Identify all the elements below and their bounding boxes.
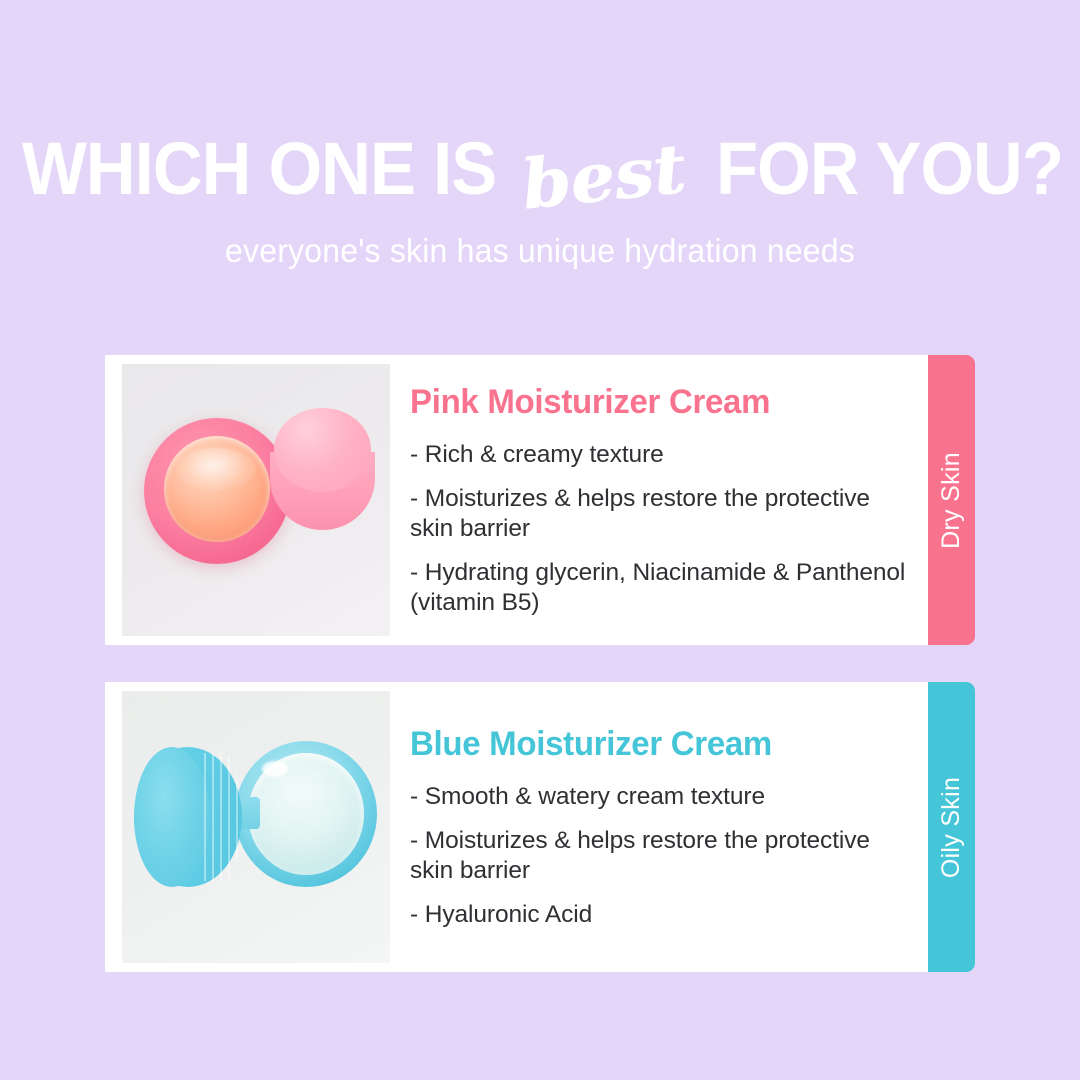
product-title-pink: Pink Moisturizer Cream — [410, 383, 899, 422]
product-title-blue: Blue Moisturizer Cream — [410, 725, 899, 764]
product-image-pink — [122, 364, 390, 636]
card-body: Blue Moisturizer Cream - Smooth & watery… — [105, 682, 928, 972]
product-bullet: - Moisturizes & helps restore the protec… — [410, 484, 914, 544]
skin-type-tab-label: Oily Skin — [937, 776, 966, 877]
page-subtitle: everyone's skin has unique hydration nee… — [16, 232, 1064, 270]
skin-type-tab-label: Dry Skin — [937, 452, 966, 549]
jar-cream-highlight-icon — [262, 761, 288, 777]
card-body: Pink Moisturizer Cream - Rich & creamy t… — [105, 355, 928, 645]
page-title: WHICH ONE IS best FOR YOU? — [0, 128, 1080, 210]
skin-type-tab-oily[interactable]: Oily Skin — [928, 682, 975, 972]
product-bullet: - Rich & creamy texture — [410, 440, 914, 470]
product-card-pink[interactable]: Pink Moisturizer Cream - Rich & creamy t… — [105, 355, 975, 645]
headline-script-word: best — [504, 126, 704, 228]
product-bullet: - Moisturizes & helps restore the protec… — [410, 826, 914, 886]
card-text-column: Blue Moisturizer Cream - Smooth & watery… — [390, 725, 928, 930]
card-text-column: Pink Moisturizer Cream - Rich & creamy t… — [390, 383, 928, 618]
skin-type-tab-dry[interactable]: Dry Skin — [928, 355, 975, 645]
product-bullet: - Hyaluronic Acid — [410, 900, 914, 930]
headline-suffix: FOR YOU? — [716, 128, 1063, 210]
jar-cream-highlight-icon — [176, 448, 256, 490]
headline-prefix: WHICH ONE IS — [22, 128, 496, 210]
jar-lid-ridges-icon — [204, 753, 242, 881]
product-bullet: - Smooth & watery cream texture — [410, 782, 914, 812]
product-image-blue — [122, 691, 390, 963]
product-bullet: - Hydrating glycerin, Niacinamide & Pant… — [410, 558, 914, 618]
jar-lid-top-icon — [274, 408, 371, 492]
header: WHICH ONE IS best FOR YOU? everyone's sk… — [0, 0, 1080, 270]
jar-lid-top-icon — [134, 747, 210, 887]
product-card-blue[interactable]: Blue Moisturizer Cream - Smooth & watery… — [105, 682, 975, 972]
